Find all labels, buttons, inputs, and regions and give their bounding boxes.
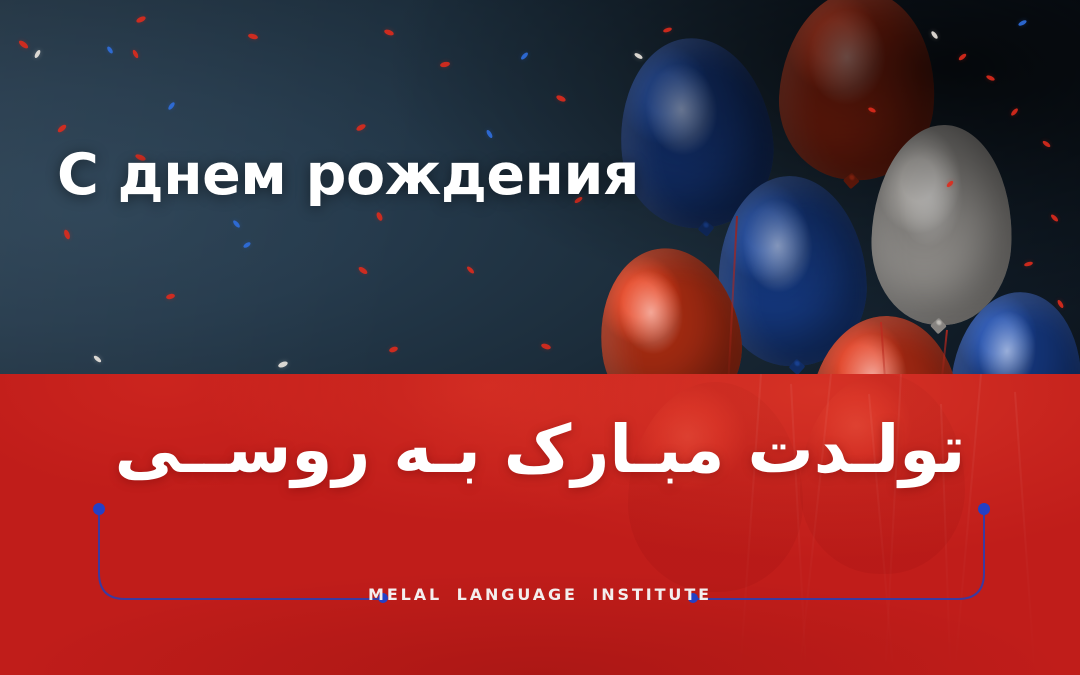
balloon-highlight <box>835 332 908 374</box>
balloon-highlight <box>740 197 815 295</box>
brand-word-language: LANGUAGE <box>457 585 578 604</box>
brand-word-institute: INSTITUTE <box>592 585 712 604</box>
persian-headline: تولـدت مبـارک بـه روســی <box>0 404 1080 495</box>
brand-lockup: MELAL LANGUAGE INSTITUTE <box>0 585 1080 604</box>
balloon-highlight <box>805 7 890 108</box>
balloon-highlight <box>895 145 964 247</box>
balloon-highlight <box>613 266 688 358</box>
balloon-highlight <box>641 60 722 159</box>
balloon-highlight <box>975 309 1040 374</box>
brand-word-melal: MELAL <box>368 585 442 604</box>
birthday-greeting-card: С днем рождения تولـدت مبـارک بـه روســی… <box>0 0 1080 675</box>
russian-headline: С днем рождения <box>57 146 639 206</box>
